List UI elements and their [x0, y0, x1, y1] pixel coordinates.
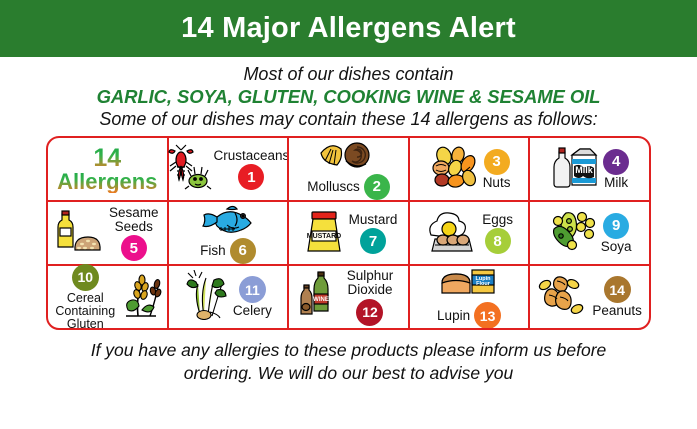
wine-bottles-icon: WINE: [296, 270, 338, 325]
intro-line-1: Most of our dishes contain: [10, 64, 687, 86]
allergen-label: Sesame Seeds: [105, 206, 163, 234]
allergen-label: Cereal Containing Gluten: [51, 292, 120, 331]
allergen-grid-row: Sesame Seeds 5: [48, 200, 649, 264]
allergen-grid-row: 10 Cereal Containing Gluten: [48, 264, 649, 328]
allergen-label: Soya: [601, 240, 632, 254]
allergen-grid: 14 Allergens: [46, 136, 651, 330]
allergen-label: Eggs: [482, 213, 513, 227]
svg-text:Flour: Flour: [476, 281, 491, 287]
allergen-badge-12: 12: [356, 299, 383, 326]
allergen-badge-7: 7: [360, 228, 386, 254]
allergen-grid-row: 14 Allergens: [48, 138, 649, 200]
allergen-badge-2: 2: [364, 174, 390, 200]
allergen-badge-9: 9: [603, 213, 629, 239]
sesame-oil-bread-icon: [52, 206, 104, 261]
cereal-text-group: 10 Cereal Containing Gluten: [51, 264, 120, 331]
allergen-badge-13: 13: [474, 302, 501, 329]
allergen-badge-1: 1: [238, 164, 264, 190]
peanuts-text-group: 14 Peanuts: [592, 276, 642, 318]
allergen-cell-mustard[interactable]: MUSTARD Mustard 7: [287, 202, 408, 264]
allergen-cell-milk[interactable]: Milk 4 Milk: [528, 138, 649, 200]
intro-block: Most of our dishes contain GARLIC, SOYA,…: [0, 57, 697, 130]
allergen-cell-nuts[interactable]: 3 Nuts: [408, 138, 529, 200]
sesame-text-group: Sesame Seeds 5: [105, 206, 163, 261]
intro-line-2-highlight: GARLIC, SOYA, GLUTEN, COOKING WINE & SES…: [10, 86, 687, 109]
mixed-nuts-icon: [428, 144, 482, 195]
shells-icon: [315, 139, 381, 174]
footer-line-2: ordering. We will do our best to advise …: [40, 362, 657, 385]
svg-text:Milk: Milk: [575, 165, 593, 175]
poster-header: 14 Major Allergens Alert: [0, 0, 697, 57]
allergen-label: Sulphur Dioxide: [339, 269, 401, 297]
milk-text-group: 4 Milk: [603, 149, 629, 190]
eggs-text-group: Eggs 8: [482, 213, 513, 254]
allergen-cell-crustaceans[interactable]: Crustaceans 1: [167, 138, 288, 200]
fish-icon: [197, 203, 259, 238]
footer-line-1: If you have any allergies to these produ…: [40, 339, 657, 362]
mustard-text-group: Mustard 7: [349, 213, 398, 254]
allergen-badge-8: 8: [485, 228, 511, 254]
allergen-label: Milk: [604, 176, 628, 190]
allergen-badge-14: 14: [604, 276, 631, 303]
soya-beans-icon: [548, 207, 600, 260]
wheat-sheaf-icon: [120, 270, 164, 325]
allergen-label: Crustaceans: [214, 149, 290, 163]
allergen-cell-fish[interactable]: Fish 6: [167, 202, 288, 264]
page-title: 14 Major Allergens Alert: [181, 12, 516, 45]
allergen-label: Molluscs: [307, 180, 360, 194]
celery-text-group: 11 Celery: [233, 276, 272, 318]
grid-title-cell: 14 Allergens: [48, 138, 167, 200]
allergen-badge-11: 11: [239, 276, 266, 303]
grid-title-word: Allergens: [57, 171, 157, 193]
allergen-cell-eggs[interactable]: Eggs 8: [408, 202, 529, 264]
allergen-cell-molluscs[interactable]: Molluscs 2: [287, 138, 408, 200]
allergen-grid-wrapper: 14 Allergens: [0, 130, 697, 330]
allergen-cell-lupin[interactable]: Lupin Flour Lupin 13: [408, 266, 529, 328]
allergen-cell-soya[interactable]: 9 Soya: [528, 202, 649, 264]
svg-text:MUSTARD: MUSTARD: [306, 233, 340, 240]
allergen-badge-10: 10: [72, 264, 99, 291]
intro-line-3: Some of our dishes may contain these 14 …: [10, 109, 687, 131]
allergen-cell-celery[interactable]: 11 Celery: [167, 266, 288, 328]
eggs-carton-icon: [425, 207, 481, 260]
allergen-label: Celery: [233, 304, 272, 318]
peanuts-icon: [537, 271, 591, 324]
allergen-alert-poster: 14 Major Allergens Alert Most of our dis…: [0, 0, 697, 429]
soya-text-group: 9 Soya: [601, 213, 632, 254]
grid-title-number: 14: [93, 146, 121, 172]
celery-stalks-icon: [184, 270, 232, 325]
milk-bottle-carton-icon: Milk: [550, 142, 602, 197]
sulphur-text-group: Sulphur Dioxide 12: [339, 269, 401, 325]
nuts-text-group: 3 Nuts: [483, 149, 511, 190]
allergen-label: Nuts: [483, 176, 511, 190]
svg-text:WINE: WINE: [313, 297, 329, 303]
lupin-flour-bread-icon: Lupin Flour: [436, 265, 502, 302]
allergen-badge-4: 4: [603, 149, 629, 175]
allergen-label: Fish: [200, 244, 226, 258]
allergen-cell-sulphur-dioxide[interactable]: WINE Sulphur Dioxide 12: [287, 266, 408, 328]
footer-block: If you have any allergies to these produ…: [0, 330, 697, 385]
mustard-jar-icon: MUSTARD: [300, 207, 348, 260]
lobster-crab-icon: [167, 142, 213, 197]
allergen-badge-6: 6: [230, 238, 256, 264]
allergen-badge-5: 5: [121, 235, 147, 261]
allergen-badge-3: 3: [484, 149, 510, 175]
allergen-cell-sesame-seeds[interactable]: Sesame Seeds 5: [48, 202, 167, 264]
allergen-cell-cereal-gluten[interactable]: 10 Cereal Containing Gluten: [48, 266, 167, 328]
allergen-label: Peanuts: [592, 304, 642, 318]
allergen-label: Mustard: [349, 213, 398, 227]
crustaceans-text-group: Crustaceans 1: [214, 149, 290, 190]
allergen-label: Lupin: [437, 309, 470, 323]
allergen-cell-peanuts[interactable]: 14 Peanuts: [528, 266, 649, 328]
